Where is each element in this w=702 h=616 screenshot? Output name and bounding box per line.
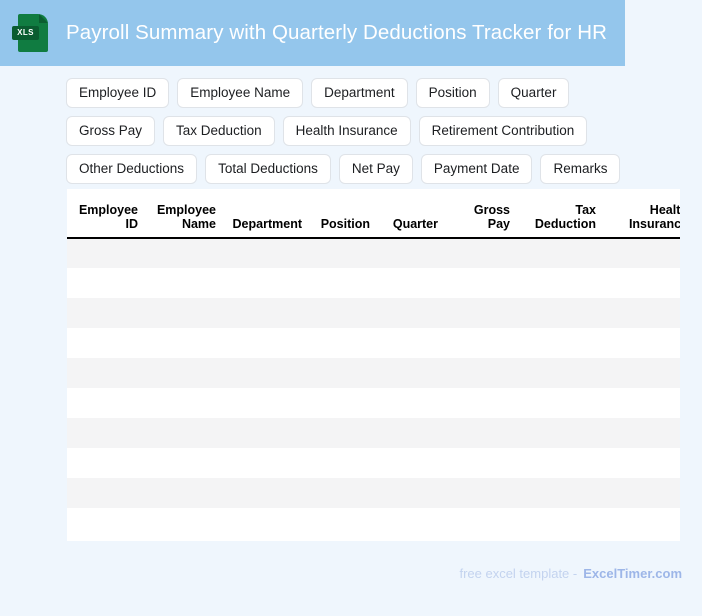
table-cell[interactable]	[603, 508, 680, 538]
spreadsheet-table-container[interactable]: Employee IDEmployee NameDepartmentPositi…	[67, 189, 680, 541]
table-column-header[interactable]: Employee Name	[145, 189, 223, 238]
table-cell[interactable]	[603, 238, 680, 268]
table-cell[interactable]	[309, 508, 377, 538]
table-cell[interactable]	[145, 298, 223, 328]
table-cell[interactable]	[445, 388, 517, 418]
table-cell[interactable]	[309, 448, 377, 478]
table-cell[interactable]	[309, 238, 377, 268]
table-cell[interactable]	[145, 448, 223, 478]
column-chip[interactable]: Net Pay	[339, 154, 413, 184]
column-chip[interactable]: Total Deductions	[205, 154, 331, 184]
table-cell[interactable]	[517, 508, 603, 538]
table-cell[interactable]	[223, 478, 309, 508]
table-cell[interactable]	[309, 358, 377, 388]
table-cell[interactable]	[145, 388, 223, 418]
table-cell[interactable]	[377, 298, 445, 328]
column-chip[interactable]: Department	[311, 78, 408, 108]
table-cell[interactable]	[603, 388, 680, 418]
table-cell[interactable]	[223, 298, 309, 328]
table-cell[interactable]	[377, 478, 445, 508]
table-cell[interactable]	[603, 298, 680, 328]
table-cell[interactable]	[517, 478, 603, 508]
table-cell[interactable]	[223, 508, 309, 538]
table-cell[interactable]	[145, 418, 223, 448]
table-cell[interactable]	[223, 268, 309, 298]
column-chip[interactable]: Payment Date	[421, 154, 533, 184]
xls-file-icon: XLS	[18, 14, 48, 52]
table-cell[interactable]	[445, 448, 517, 478]
table-cell[interactable]	[223, 418, 309, 448]
table-cell[interactable]	[603, 358, 680, 388]
table-cell[interactable]	[67, 328, 145, 358]
table-cell[interactable]	[445, 268, 517, 298]
table-cell[interactable]	[517, 388, 603, 418]
column-chip[interactable]: Retirement Contribution	[419, 116, 588, 146]
table-column-header[interactable]: Tax Deduction	[517, 189, 603, 238]
table-cell[interactable]	[67, 418, 145, 448]
table-column-header[interactable]: Employee ID	[67, 189, 145, 238]
table-cell[interactable]	[309, 298, 377, 328]
table-cell[interactable]	[309, 388, 377, 418]
footer-text: free excel template -	[459, 566, 577, 581]
table-cell[interactable]	[377, 358, 445, 388]
column-chip[interactable]: Employee ID	[66, 78, 169, 108]
table-cell[interactable]	[445, 328, 517, 358]
column-chip[interactable]: Health Insurance	[283, 116, 411, 146]
table-cell[interactable]	[603, 328, 680, 358]
table-column-header[interactable]: Position	[309, 189, 377, 238]
column-chip[interactable]: Remarks	[540, 154, 620, 184]
table-column-header[interactable]: Department	[223, 189, 309, 238]
column-chip[interactable]: Position	[416, 78, 490, 108]
table-cell[interactable]	[445, 478, 517, 508]
table-cell[interactable]	[145, 238, 223, 268]
table-cell[interactable]	[603, 448, 680, 478]
table-cell[interactable]	[517, 328, 603, 358]
table-cell[interactable]	[145, 268, 223, 298]
table-cell[interactable]	[445, 508, 517, 538]
table-cell[interactable]	[517, 238, 603, 268]
table-cell[interactable]	[67, 358, 145, 388]
column-chip[interactable]: Tax Deduction	[163, 116, 275, 146]
table-cell[interactable]	[67, 268, 145, 298]
table-cell[interactable]	[145, 328, 223, 358]
column-chip[interactable]: Employee Name	[177, 78, 303, 108]
table-row[interactable]	[67, 478, 680, 508]
footer-brand-link[interactable]: ExcelTimer.com	[583, 566, 682, 581]
table-cell[interactable]	[603, 418, 680, 448]
table-cell[interactable]	[445, 298, 517, 328]
table-cell[interactable]	[309, 268, 377, 298]
table-row[interactable]	[67, 388, 680, 418]
page-title: Payroll Summary with Quarterly Deduction…	[66, 21, 607, 45]
table-cell[interactable]	[377, 268, 445, 298]
column-chip[interactable]: Quarter	[498, 78, 570, 108]
app-header-bar: XLS Payroll Summary with Quarterly Deduc…	[0, 0, 625, 66]
table-cell[interactable]	[377, 328, 445, 358]
table-column-header[interactable]: Gross Pay	[445, 189, 517, 238]
payroll-table: Employee IDEmployee NameDepartmentPositi…	[67, 189, 680, 538]
table-row[interactable]	[67, 448, 680, 478]
table-cell[interactable]	[145, 508, 223, 538]
column-chip[interactable]: Gross Pay	[66, 116, 155, 146]
table-cell[interactable]	[67, 238, 145, 268]
table-cell[interactable]	[67, 448, 145, 478]
table-body	[67, 238, 680, 538]
table-header-row: Employee IDEmployee NameDepartmentPositi…	[67, 189, 680, 238]
table-cell[interactable]	[517, 418, 603, 448]
table-cell[interactable]	[445, 358, 517, 388]
table-cell[interactable]	[67, 478, 145, 508]
table-cell[interactable]	[309, 478, 377, 508]
table-cell[interactable]	[603, 478, 680, 508]
table-cell[interactable]	[67, 388, 145, 418]
table-cell[interactable]	[145, 358, 223, 388]
table-cell[interactable]	[377, 238, 445, 268]
table-column-header[interactable]: Health Insurance	[603, 189, 680, 238]
table-cell[interactable]	[517, 268, 603, 298]
table-cell[interactable]	[145, 478, 223, 508]
table-cell[interactable]	[67, 508, 145, 538]
table-cell[interactable]	[377, 508, 445, 538]
table-cell[interactable]	[603, 268, 680, 298]
table-cell[interactable]	[377, 388, 445, 418]
table-cell[interactable]	[517, 298, 603, 328]
table-row[interactable]	[67, 508, 680, 538]
table-cell[interactable]	[223, 238, 309, 268]
table-cell[interactable]	[67, 298, 145, 328]
xls-icon-label: XLS	[12, 26, 39, 40]
table-row[interactable]	[67, 298, 680, 328]
table-cell[interactable]	[223, 358, 309, 388]
table-cell[interactable]	[445, 418, 517, 448]
column-chip-list: Employee IDEmployee NameDepartmentPositi…	[66, 78, 666, 184]
table-cell[interactable]	[223, 328, 309, 358]
table-cell[interactable]	[309, 328, 377, 358]
table-cell[interactable]	[517, 358, 603, 388]
table-cell[interactable]	[223, 388, 309, 418]
table-cell[interactable]	[377, 448, 445, 478]
footer-attribution: free excel template -ExcelTimer.com	[459, 566, 682, 581]
table-row[interactable]	[67, 358, 680, 388]
table-row[interactable]	[67, 268, 680, 298]
table-cell[interactable]	[445, 238, 517, 268]
table-cell[interactable]	[309, 418, 377, 448]
table-column-header[interactable]: Quarter	[377, 189, 445, 238]
column-chip[interactable]: Other Deductions	[66, 154, 197, 184]
table-row[interactable]	[67, 238, 680, 268]
table-cell[interactable]	[223, 448, 309, 478]
table-cell[interactable]	[377, 418, 445, 448]
table-row[interactable]	[67, 328, 680, 358]
table-header: Employee IDEmployee NameDepartmentPositi…	[67, 189, 680, 238]
table-row[interactable]	[67, 418, 680, 448]
table-cell[interactable]	[517, 448, 603, 478]
